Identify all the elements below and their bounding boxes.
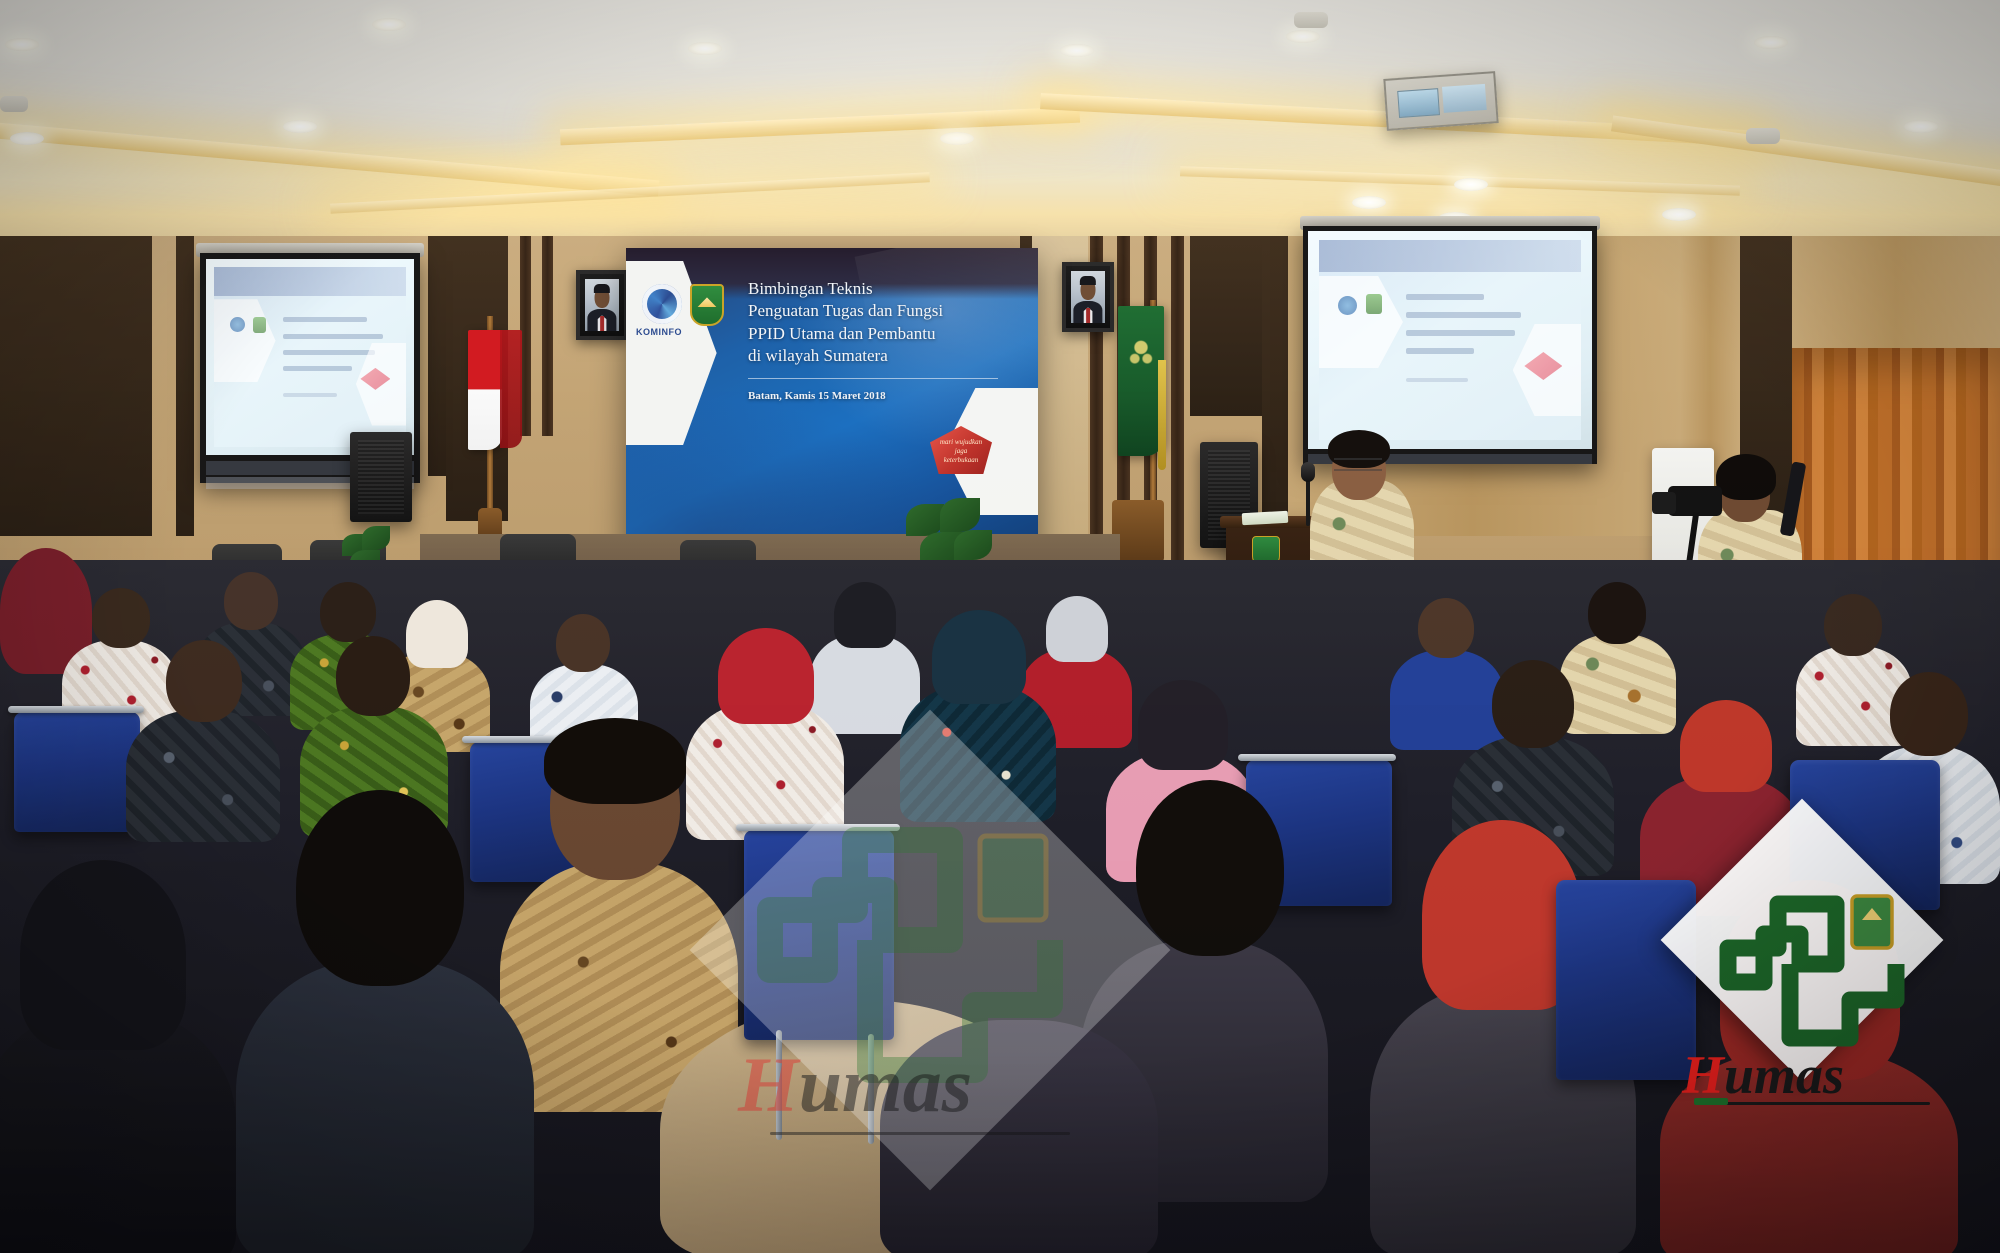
slide-text-line [1406,378,1469,382]
audience-head [1824,594,1882,656]
smoke-detector-icon [1746,128,1780,144]
audience-head [1418,598,1474,658]
ceiling-projector [1383,71,1498,131]
slide-chevron [1319,276,1403,368]
slide-header-bar [214,267,405,296]
wall-dark-panel [1190,236,1262,416]
audience-member-foreground [880,960,1160,1253]
slide-chevron [214,299,275,382]
slide-right [1319,240,1580,441]
kominfo-label: KOMINFO [636,327,682,337]
audience-hijab [718,628,814,724]
slide-crest-icon [253,317,266,333]
slide-text-line [283,350,375,355]
slide-kominfo-icon [230,317,245,332]
audience-head [1492,660,1574,748]
chair-armrest [1238,754,1396,761]
slide-left [214,267,405,447]
downlight [1754,36,1788,49]
kominfo-logo-icon [642,284,682,324]
plant-leaf [940,498,980,532]
portrait-vice-president [1062,262,1114,332]
downlight [1286,30,1320,43]
podium-papers [1242,511,1289,525]
audience-hijab [1138,680,1228,770]
photographer-hair [1716,454,1776,500]
projector-lens [1397,88,1440,118]
audience-shirt [236,960,534,1253]
audience-head [166,640,242,722]
audience-head [336,636,410,716]
audience-head [1136,780,1284,956]
speaker-glasses [1334,458,1382,471]
audience-member-foreground [1660,880,1960,1253]
audience-head [224,572,278,630]
audience-head [296,790,464,986]
photo-canvas: KOMINFO Bimbingan Teknis Penguatan Tugas… [0,0,2000,1253]
slide-text-line [1406,348,1474,354]
banner-date: Batam, Kamis 15 Maret 2018 [748,390,886,402]
screen-surface-left [206,259,414,455]
slide-header-bar [1319,240,1580,272]
portrait-image [1071,271,1105,323]
ceiling-vent [0,96,28,112]
wall-dark-panel [176,236,194,536]
slide-text-line [1406,294,1484,300]
audience-head [1890,672,1968,756]
wall-dark-panel [1262,236,1288,536]
slide-text-line [283,334,383,339]
downlight [1904,120,1938,133]
downlight [10,132,44,145]
downlight [283,120,317,133]
provincial-crest-icon [690,284,724,326]
smoke-detector-icon [1294,12,1328,28]
screen-surface-right [1308,231,1592,449]
camera-lens-icon [1652,492,1676,514]
downlight [940,132,974,145]
audience-shirt [880,1020,1158,1253]
downlight [688,42,722,55]
portrait-tie [600,316,604,331]
audience-head [1588,582,1646,644]
plant-leaf [954,530,992,560]
wood-slat [542,236,553,436]
audience-hijab [20,860,186,1050]
monopod-handle [1780,461,1807,536]
downlight [1662,208,1696,221]
slide-text-line [283,393,337,397]
portrait-president [576,270,628,340]
audience-member-foreground [0,860,240,1253]
audience-chair-foreground [744,830,894,1040]
downlight [1352,196,1386,209]
plant-leaf [362,526,390,550]
wall-dark-panel [0,236,152,536]
audience-member [900,610,1058,820]
audience-member-foreground [236,790,536,1253]
slide-text-line [283,317,367,322]
downlight [372,18,406,31]
downlight [1060,44,1094,57]
audience-hijab [932,610,1026,704]
banner-divider [748,378,998,379]
audience-head [320,582,376,642]
slide-text-line [1406,312,1521,318]
downlight [5,38,39,51]
wood-slat [1171,236,1184,572]
flag-indonesia [468,330,502,450]
chair-armrest [736,824,900,831]
audience-hair [544,718,686,804]
slide-text-line [283,366,352,371]
slide-crest-icon [1366,294,1382,314]
slide-kominfo-icon [1338,296,1357,315]
ceiling [0,0,2000,250]
downlight [1454,178,1488,191]
wall-dark-panel [428,236,446,476]
flag-fringe [1158,360,1166,470]
portrait-songkok [594,284,610,293]
portrait-songkok [1080,276,1096,285]
flag-indonesia-second [500,330,522,448]
audience-head [92,588,150,648]
audience-shirt [1660,1050,1958,1253]
chair-leg [868,1034,874,1144]
banner-title: Bimbingan Teknis Penguatan Tugas dan Fun… [748,278,1028,368]
audience-chair-foreground [1556,880,1696,1080]
event-seal-text: mari wujudkan jaga keterbukaan [930,438,992,464]
portrait-image [585,279,619,331]
projector-housing [1442,83,1487,113]
audience-head [556,614,610,672]
chair-leg [776,1030,782,1140]
portrait-tie [1086,308,1090,323]
slide-text-line [1406,330,1516,336]
wall-wood-panel [1792,236,2000,348]
audience-batik [900,684,1056,822]
audience-hijab [1680,700,1772,792]
audience-hijab [1720,880,1900,1080]
pa-speaker-left [350,432,412,522]
